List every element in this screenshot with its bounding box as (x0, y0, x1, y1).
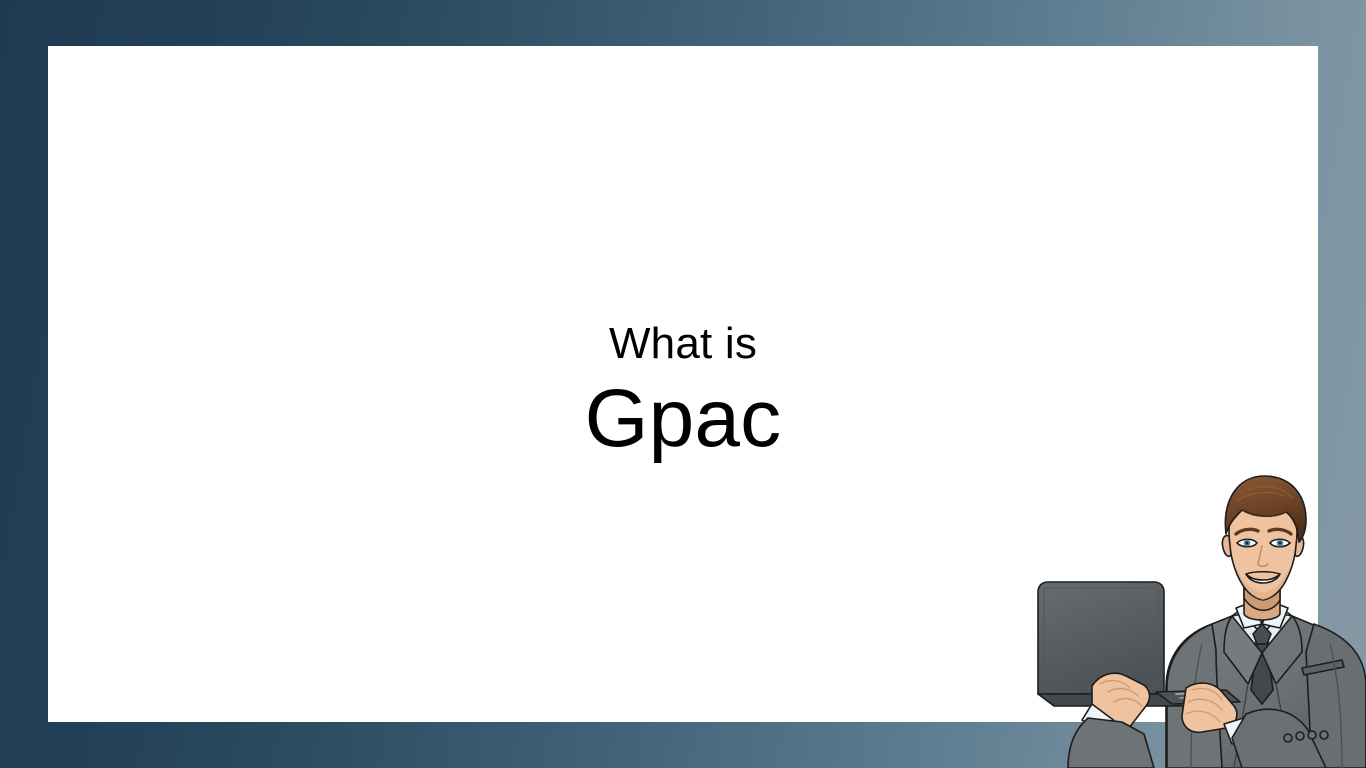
slide-title-line-1: What is (48, 318, 1318, 370)
slide-content-panel: What is Gpac (48, 46, 1318, 722)
slide-title-line-2: Gpac (48, 371, 1318, 467)
slide-root: What is Gpac (0, 0, 1366, 768)
